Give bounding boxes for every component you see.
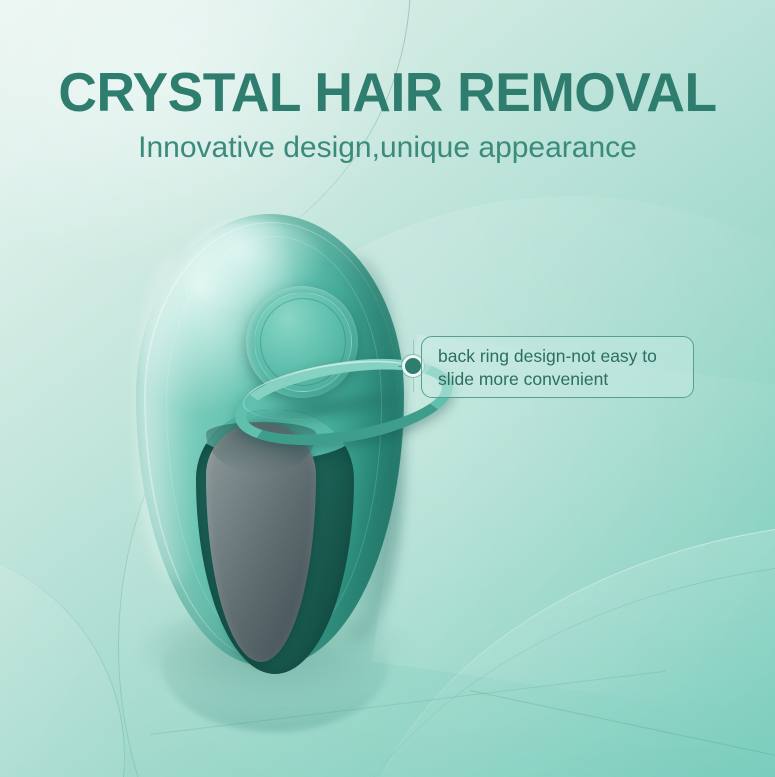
page-subtitle: Innovative design,unique appearance	[0, 131, 775, 165]
product-image	[122, 214, 422, 674]
feature-callout: back ring design-not easy to slide more …	[421, 336, 694, 398]
product-banner: CRYSTAL HAIR REMOVAL Innovative design,u…	[0, 0, 775, 777]
callout-line-1: back ring design-not easy to	[438, 345, 683, 368]
background-diagonal-line	[470, 690, 775, 777]
callout-line-2: slide more convenient	[438, 368, 683, 391]
page-title: CRYSTAL HAIR REMOVAL	[12, 60, 764, 124]
background-arc-bottom-left	[0, 546, 125, 777]
